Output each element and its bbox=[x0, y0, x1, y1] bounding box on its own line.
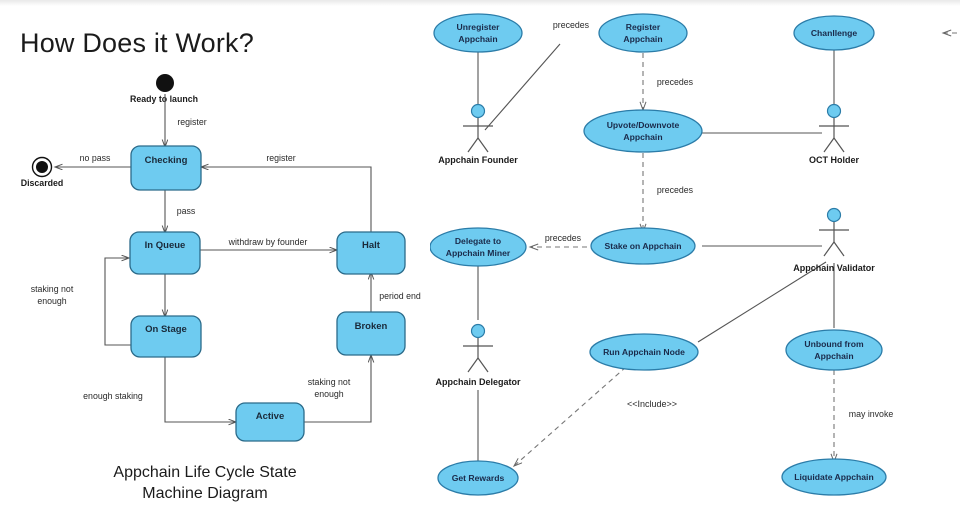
use-case-label-upvote-downvote-line1: Upvote/Downvote bbox=[607, 120, 680, 130]
use-case-ellipse-register-appchain[interactable] bbox=[599, 14, 687, 52]
edge-on-stage-to-in-queue bbox=[105, 258, 131, 345]
edge-label-register-initial: register bbox=[177, 117, 206, 127]
actor-label-oct-holder: OCT Holder bbox=[809, 155, 859, 165]
state-label-checking: Checking bbox=[145, 155, 188, 166]
state-box-checking[interactable] bbox=[131, 146, 201, 190]
state-node-on-stage[interactable]: On Stage bbox=[131, 316, 201, 357]
use-case-label-unbound-line2: Appchain bbox=[814, 351, 853, 361]
use-case-ellipse-upvote-downvote-appchain[interactable] bbox=[584, 110, 702, 152]
state-node-active[interactable]: Active bbox=[236, 403, 304, 441]
use-case-ellipse-delegate-to-appchain-miner[interactable] bbox=[430, 228, 526, 266]
dep-label-precedes-3: precedes bbox=[657, 185, 694, 195]
edge-label-staking-not-enough-2-line2: enough bbox=[314, 389, 343, 399]
use-case-label-stake-on-appchain: Stake on Appchain bbox=[604, 241, 681, 251]
actor-head-appchain-delegator bbox=[472, 325, 485, 338]
use-case-label-unregister-appchain-line1: Unregister bbox=[457, 22, 501, 32]
state-label-halt: Halt bbox=[362, 240, 381, 251]
use-case-label-upvote-downvote-line2: Appchain bbox=[623, 132, 662, 142]
slide-canvas: How Does it Work? Appchain Life Cycle St… bbox=[0, 0, 960, 525]
edge-label-staking-not-enough-1-line2: enough bbox=[37, 296, 66, 306]
state-label-on-stage: On Stage bbox=[145, 324, 187, 335]
use-case-label-run-appchain-node: Run Appchain Node bbox=[603, 347, 685, 357]
actor-leg-left-appchain-delegator bbox=[468, 358, 478, 372]
use-case-label-chanllenge: Chanllenge bbox=[811, 28, 858, 38]
edge-label-enough-staking: enough staking bbox=[83, 391, 143, 401]
edge-label-staking-not-enough-2-line1: staking not bbox=[308, 377, 351, 387]
edge-on-stage-to-active bbox=[165, 357, 236, 422]
actor-leg-left-appchain-founder bbox=[468, 138, 478, 152]
state-box-on-stage[interactable] bbox=[131, 316, 201, 357]
use-case-ellipse-unregister-appchain[interactable] bbox=[434, 14, 522, 52]
use-case-label-unbound-line1: Unbound from bbox=[804, 339, 864, 349]
use-case-label-unregister-appchain-line2: Appchain bbox=[458, 34, 497, 44]
dep-label-precedes-1: precedes bbox=[553, 20, 590, 30]
final-state-label: Discarded bbox=[21, 178, 64, 188]
actor-head-appchain-validator bbox=[828, 209, 841, 222]
state-label-in-queue: In Queue bbox=[145, 240, 186, 251]
use-case-label-delegate-line2: Appchain Miner bbox=[446, 248, 511, 258]
dep-label-may-invoke: may invoke bbox=[849, 409, 894, 419]
use-case-register-appchain[interactable]: Register Appchain bbox=[599, 14, 687, 52]
state-box-halt[interactable] bbox=[337, 232, 405, 274]
edge-label-pass: pass bbox=[177, 206, 196, 216]
final-state-core bbox=[36, 161, 48, 173]
use-case-unregister-appchain[interactable]: Unregister Appchain bbox=[434, 14, 522, 52]
actor-leg-right-appchain-delegator bbox=[478, 358, 488, 372]
state-box-in-queue[interactable] bbox=[130, 232, 200, 274]
use-case-run-appchain-node[interactable]: Run Appchain Node bbox=[590, 334, 698, 370]
dep-run-node-to-get-rewards bbox=[514, 367, 626, 466]
actor-leg-left-oct-holder bbox=[824, 138, 834, 152]
use-case-chanllenge[interactable]: Chanllenge bbox=[794, 16, 874, 50]
use-case-label-get-rewards: Get Rewards bbox=[452, 473, 505, 483]
actor-leg-right-appchain-founder bbox=[478, 138, 488, 152]
actor-head-oct-holder bbox=[828, 105, 841, 118]
use-case-unbound-from-appchain[interactable]: Unbound from Appchain bbox=[786, 330, 882, 370]
actor-oct-holder[interactable]: OCT Holder bbox=[809, 105, 859, 166]
actor-appchain-validator[interactable]: Appchain Validator bbox=[793, 209, 875, 274]
state-machine-diagram: Ready to launch Discarded register no pa… bbox=[0, 0, 440, 525]
actor-leg-right-oct-holder bbox=[834, 138, 844, 152]
use-case-label-register-appchain-line1: Register bbox=[626, 22, 661, 32]
actor-label-appchain-founder: Appchain Founder bbox=[438, 155, 518, 165]
state-node-in-queue[interactable]: In Queue bbox=[130, 232, 200, 274]
edge-label-staking-not-enough-1-line1: staking not bbox=[31, 284, 74, 294]
actor-appchain-founder[interactable]: Appchain Founder bbox=[438, 105, 518, 166]
state-node-checking[interactable]: Checking bbox=[131, 146, 201, 190]
assoc-appchain-founder-register bbox=[485, 44, 560, 130]
use-case-diagram: precedes precedes precedes precedes <<In… bbox=[430, 0, 960, 525]
actor-leg-right-appchain-validator bbox=[834, 242, 844, 256]
initial-state-label: Ready to launch bbox=[130, 94, 198, 104]
state-node-broken[interactable]: Broken bbox=[337, 312, 405, 355]
actor-label-appchain-validator: Appchain Validator bbox=[793, 263, 875, 273]
state-node-halt[interactable]: Halt bbox=[337, 232, 405, 274]
state-box-active[interactable] bbox=[236, 403, 304, 441]
edge-label-no-pass: no pass bbox=[80, 153, 111, 163]
use-case-get-rewards[interactable]: Get Rewards bbox=[438, 461, 518, 495]
dep-label-precedes-2: precedes bbox=[657, 77, 694, 87]
use-case-liquidate-appchain[interactable]: Liquidate Appchain bbox=[782, 459, 886, 495]
use-case-ellipse-unbound-from-appchain[interactable] bbox=[786, 330, 882, 370]
edge-halt-to-checking bbox=[201, 167, 371, 233]
use-case-delegate-to-appchain-miner[interactable]: Delegate to Appchain Miner bbox=[430, 228, 526, 266]
edge-label-withdraw-by-founder: withdraw by founder bbox=[228, 237, 308, 247]
use-case-label-delegate-line1: Delegate to bbox=[455, 236, 501, 246]
edge-label-period-end: period end bbox=[379, 291, 421, 301]
dep-label-include: <<Include>> bbox=[627, 399, 677, 409]
actor-head-appchain-founder bbox=[472, 105, 485, 118]
actor-label-appchain-delegator: Appchain Delegator bbox=[435, 377, 521, 387]
state-label-broken: Broken bbox=[355, 321, 388, 332]
state-label-active: Active bbox=[256, 411, 285, 422]
dep-label-precedes-4: precedes bbox=[545, 233, 582, 243]
assoc-validator-run-node bbox=[698, 262, 826, 342]
state-box-broken[interactable] bbox=[337, 312, 405, 355]
actor-appchain-delegator[interactable]: Appchain Delegator bbox=[435, 325, 521, 388]
actor-leg-left-appchain-validator bbox=[824, 242, 834, 256]
edge-label-register-halt: register bbox=[266, 153, 295, 163]
use-case-label-register-appchain-line2: Appchain bbox=[623, 34, 662, 44]
initial-state-node bbox=[156, 74, 174, 92]
use-case-label-liquidate-appchain: Liquidate Appchain bbox=[794, 472, 873, 482]
use-case-upvote-downvote-appchain[interactable]: Upvote/Downvote Appchain bbox=[584, 110, 702, 152]
use-case-stake-on-appchain[interactable]: Stake on Appchain bbox=[591, 228, 695, 264]
